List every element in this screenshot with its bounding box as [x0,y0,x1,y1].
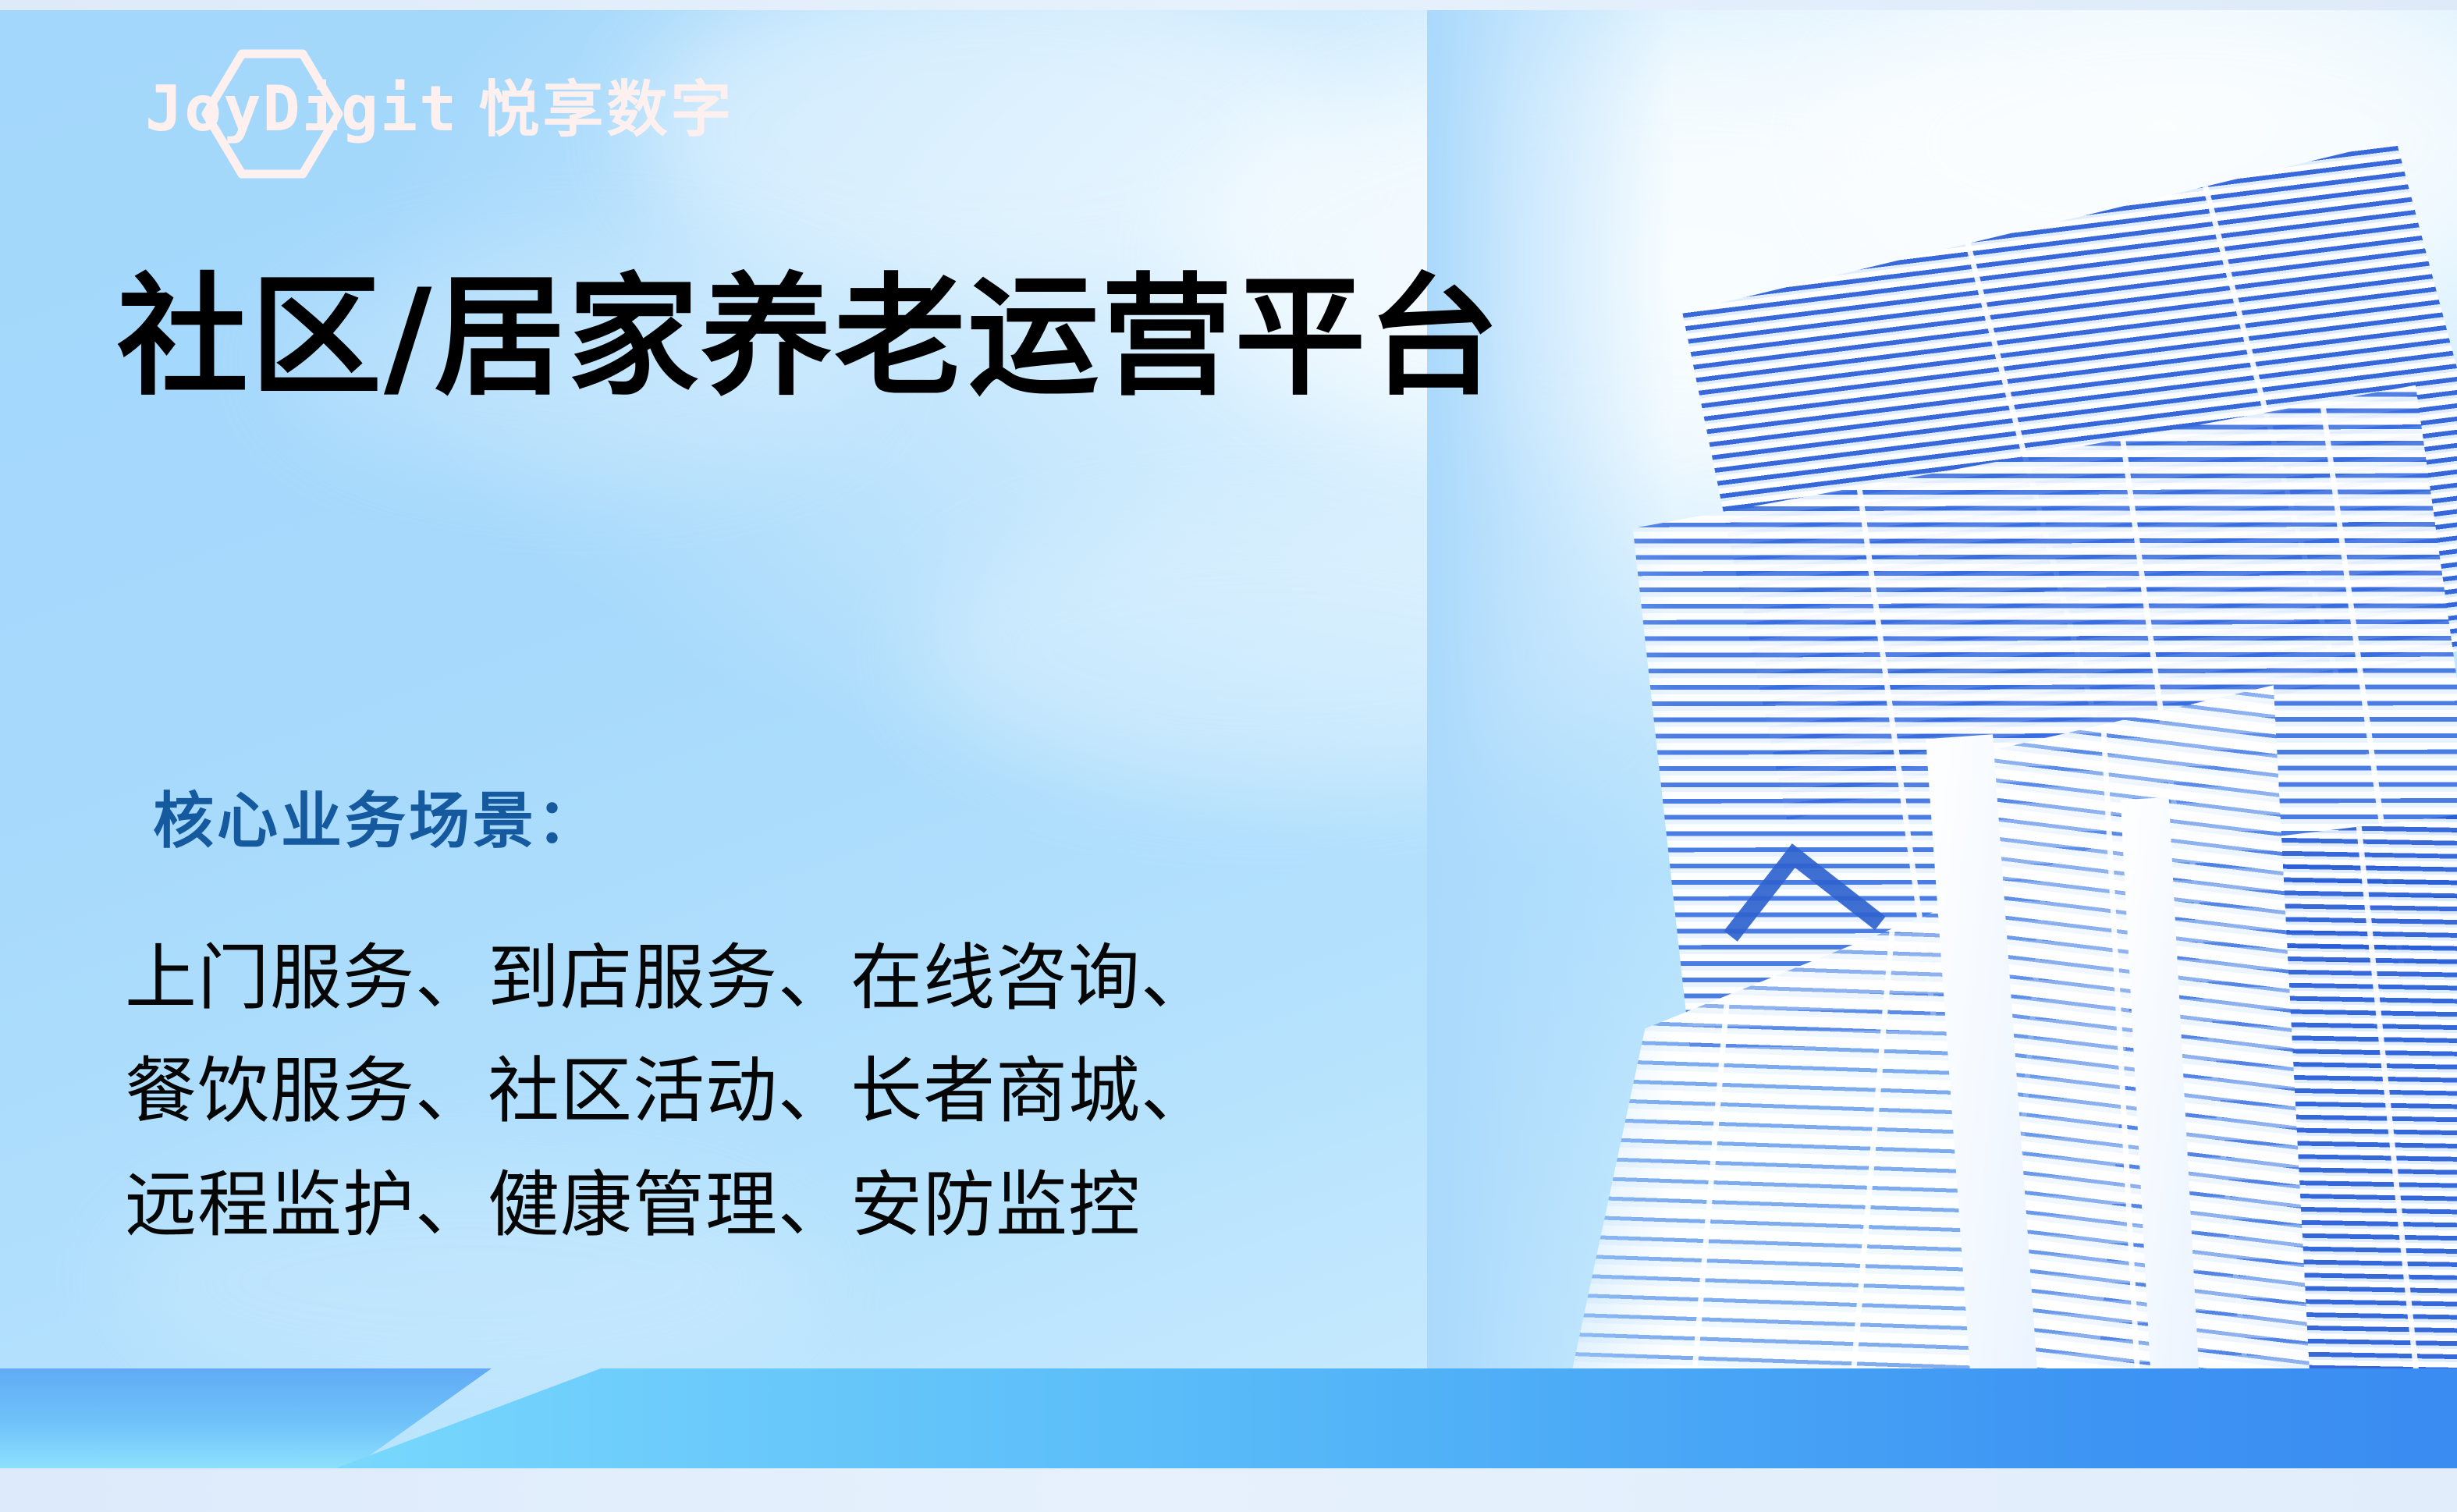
bottom-frame-band [0,1468,2457,1512]
page-title: 社区/居家养老运营平台 [117,261,1501,413]
section-subheading: 核心业务场景： [153,786,601,859]
building-mullion [2114,401,2209,1035]
building-pilaster [2121,797,2207,1468]
skyscraper-photo [1427,10,2457,1468]
building-facade [1603,385,2457,1062]
building-tower [1937,680,2317,1468]
building-mullion [2198,168,2357,741]
logo-wordmark-en: JoyDigit [145,78,458,140]
building-mullion [2318,390,2413,1024]
presentation-slide: JoyDigit 悦享数字 社区/居家养老运营平台 核心业务场景： 上门服务、到… [0,0,2457,1512]
scenario-line: 上门服务、到店服务、在线咨询、 [125,921,1213,1035]
building-pilaster [1926,734,2047,1468]
building-facade [1937,680,2317,1468]
bottom-decorative-band [0,1368,2457,1468]
scenario-line: 餐饮服务、社区活动、长者商城、 [125,1035,1213,1148]
scenario-line: 远程监护、健康管理、安防监控 [125,1148,1213,1262]
scenario-list: 上门服务、到店服务、在线咨询、 餐饮服务、社区活动、长者商城、 远程监护、健康管… [125,921,1213,1262]
building-mullion [1954,202,2113,776]
logo-wordmark-cn: 悦享数字 [478,80,734,140]
cloud-decoration [640,10,1342,299]
building-mullion [2099,682,2147,1468]
building-roof-chevron [1724,843,1885,1003]
building-tower [1633,140,2457,821]
brand-logo: JoyDigit 悦享数字 [131,51,734,168]
deco-parallelogram-main [336,1368,2457,1468]
slide-stage: JoyDigit 悦享数字 社区/居家养老运营平台 核心业务场景： 上门服务、到… [0,10,2457,1468]
top-frame-band [0,0,2457,10]
building-tower [1603,385,2457,1062]
building-mullion [1846,415,1940,1049]
building-facade [1633,140,2457,821]
